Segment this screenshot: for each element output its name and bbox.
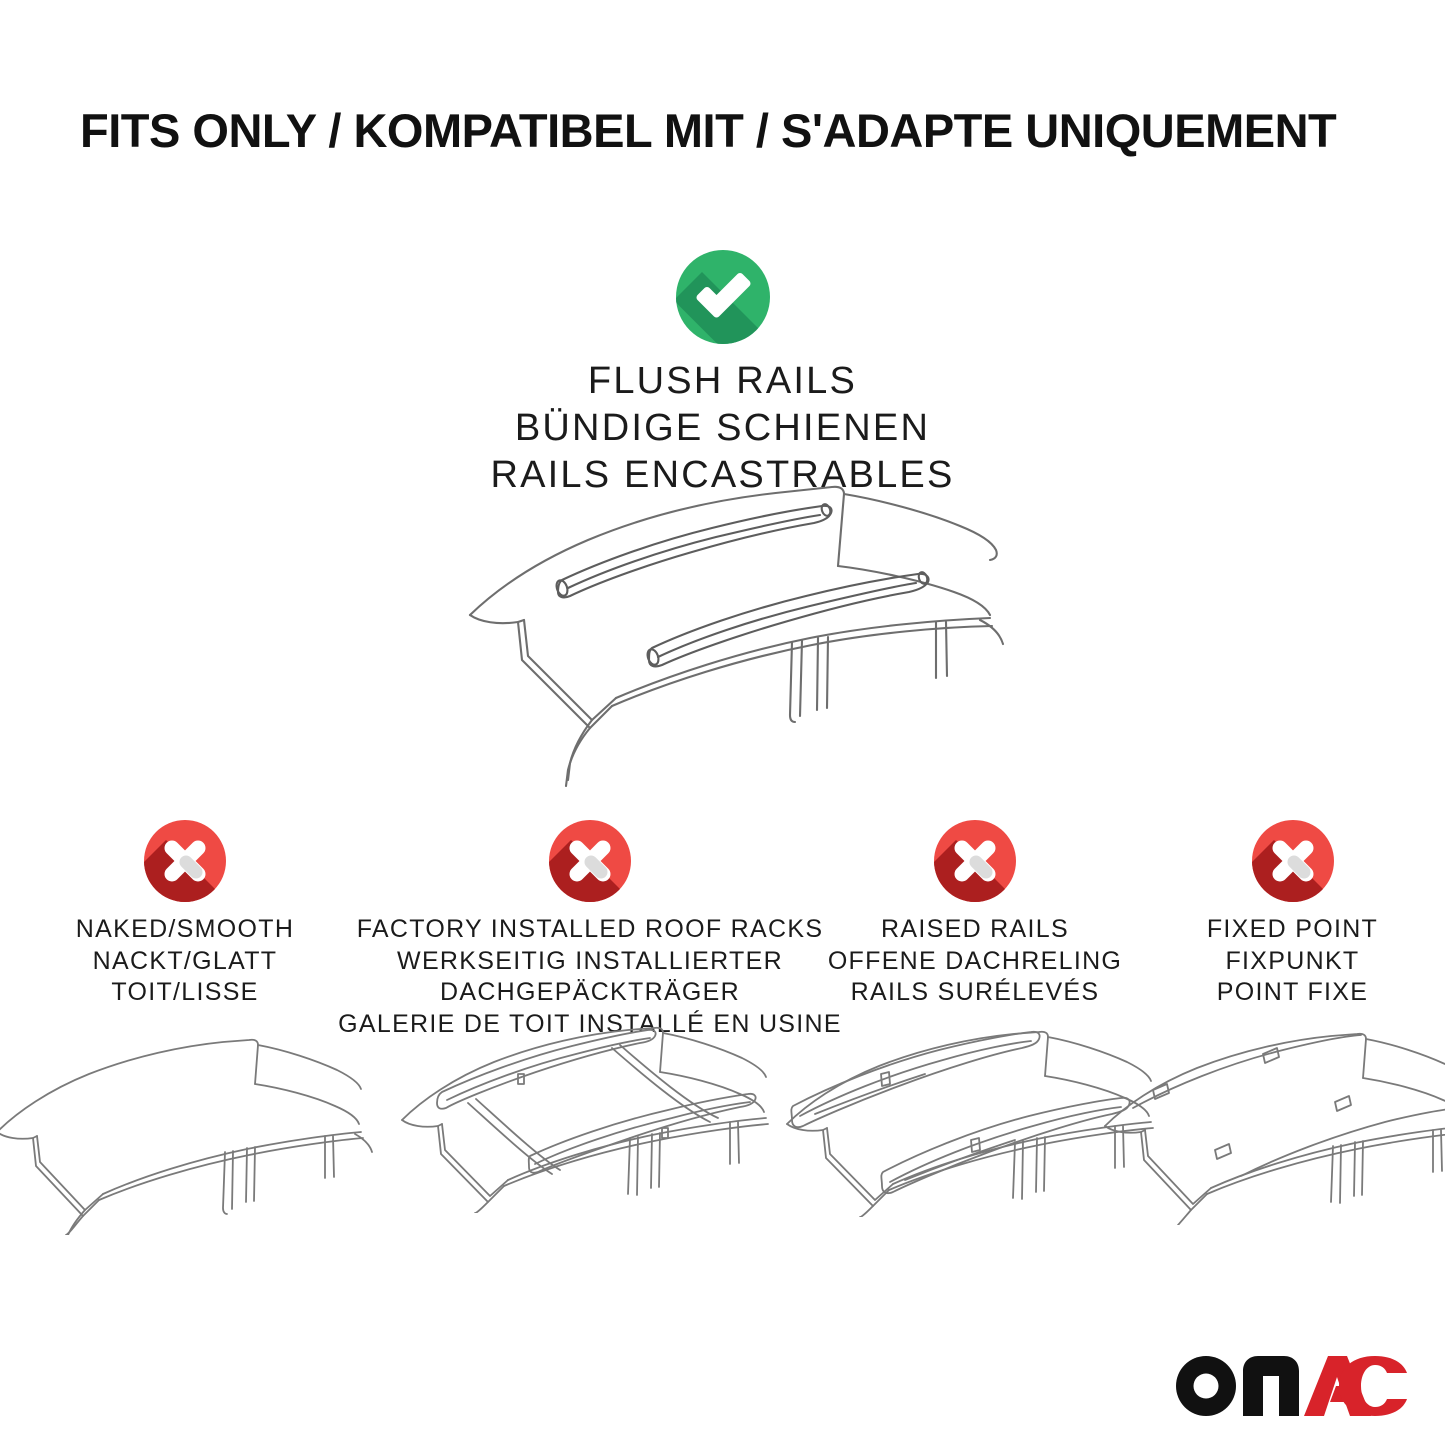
column-label-line-1: FACTORY INSTALLED ROOF RACKS — [338, 914, 842, 946]
x-circle-background — [549, 820, 631, 902]
x-glyph — [549, 820, 631, 902]
fitment-infographic-page: FITS ONLY / KOMPATIBEL MIT / S'ADAPTE UN… — [0, 0, 1445, 1445]
column-label-line-1: RAISED RAILS — [828, 914, 1122, 946]
x-circle-icon — [144, 820, 226, 902]
logo-letter-c — [1339, 1356, 1407, 1416]
column-label-line-3: TOIT/LISSE — [76, 977, 294, 1009]
column-label-group: RAISED RAILS OFFENE DACHRELING RAILS SUR… — [828, 914, 1122, 1009]
omac-logo — [1175, 1355, 1407, 1417]
x-glyph — [1252, 820, 1334, 902]
column-label-line-1: NAKED/SMOOTH — [76, 914, 294, 946]
x-circle-icon — [1252, 820, 1334, 902]
rejected-column-factory-racks: FACTORY INSTALLED ROOF RACKS WERKSEITIG … — [370, 820, 810, 1040]
rejected-column-naked-smooth: NAKED/SMOOTH NACKT/GLATT TOIT/LISSE — [0, 820, 370, 1009]
x-circle-background — [1252, 820, 1334, 902]
logo-letter-o — [1176, 1356, 1236, 1416]
approved-label-line-2: BÜNDIGE SCHIENEN — [0, 405, 1445, 452]
column-label-line-2: NACKT/GLATT — [76, 946, 294, 978]
rejected-column-raised-rails: RAISED RAILS OFFENE DACHRELING RAILS SUR… — [810, 820, 1140, 1009]
rejected-column-fixed-point: FIXED POINT FIXPUNKT POINT FIXE — [1140, 820, 1445, 1009]
page-title: FITS ONLY / KOMPATIBEL MIT / S'ADAPTE UN… — [80, 104, 1380, 158]
x-glyph — [144, 820, 226, 902]
x-circle-icon — [549, 820, 631, 902]
x-circle-icon — [934, 820, 1016, 902]
car-roof-factory-racks-illustration — [390, 998, 790, 1213]
column-label-group: NAKED/SMOOTH NACKT/GLATT TOIT/LISSE — [76, 914, 294, 1009]
x-glyph — [934, 820, 1016, 902]
approved-label-line-1: FLUSH RAILS — [0, 358, 1445, 405]
column-label-line-1: FIXED POINT — [1207, 914, 1378, 946]
column-label-line-3: POINT FIXE — [1207, 977, 1378, 1009]
check-circle-background — [676, 250, 770, 344]
car-roof-fixed-point-illustration — [1093, 1010, 1445, 1225]
car-roof-naked-smooth-illustration — [0, 1020, 385, 1235]
column-label-line-2: WERKSEITIG INSTALLIERTER — [338, 946, 842, 978]
logo-letter-m — [1243, 1356, 1299, 1416]
column-label-line-2: FIXPUNKT — [1207, 946, 1378, 978]
check-circle-icon — [676, 250, 770, 344]
column-label-group: FIXED POINT FIXPUNKT POINT FIXE — [1207, 914, 1378, 1009]
x-circle-background — [144, 820, 226, 902]
approved-fitment-section: FLUSH RAILS BÜNDIGE SCHIENEN RAILS ENCAS… — [0, 250, 1445, 499]
column-label-line-2: OFFENE DACHRELING — [828, 946, 1122, 978]
car-roof-flush-rails-illustration — [440, 470, 1020, 790]
check-glyph — [676, 250, 770, 344]
rejected-fitment-grid: NAKED/SMOOTH NACKT/GLATT TOIT/LISSE — [0, 820, 1445, 1040]
x-circle-background — [934, 820, 1016, 902]
